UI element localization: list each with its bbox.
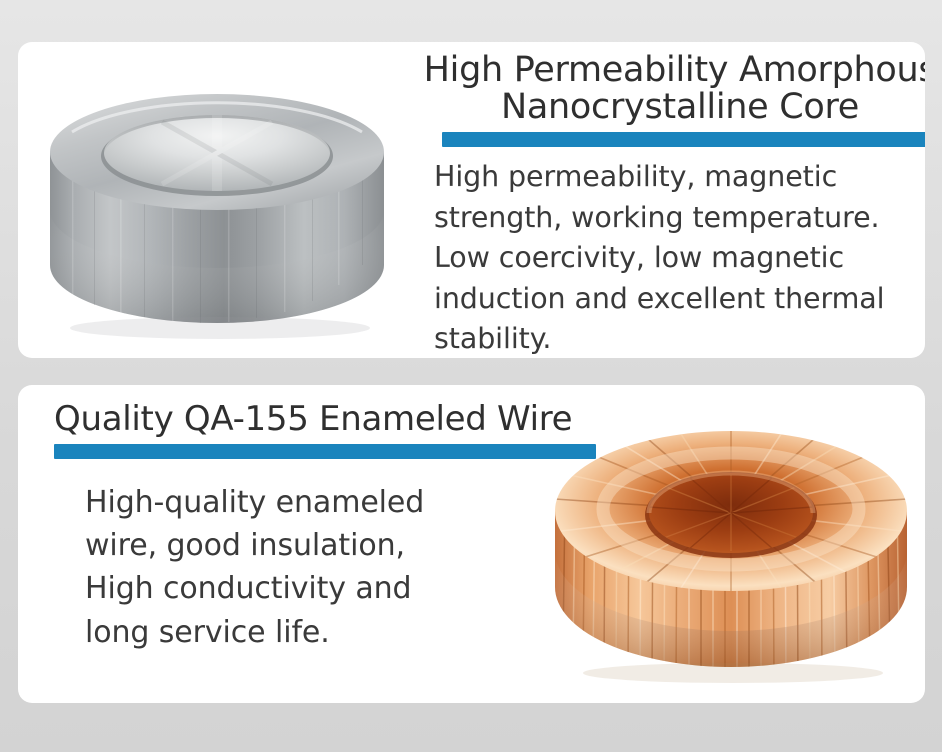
wire-text-block: Quality QA-155 Enameled Wire High-qualit… xyxy=(54,401,614,654)
core-body-text: High permeability, magnetic strength, wo… xyxy=(434,157,925,358)
core-text-block: High Permeability Amorphous Nanocrystall… xyxy=(416,52,925,358)
card-qa155-enameled-wire: Quality QA-155 Enameled Wire High-qualit… xyxy=(18,385,925,703)
card-amorphous-nanocrystalline-core: High Permeability Amorphous Nanocrystall… xyxy=(18,42,925,358)
core-heading: High Permeability Amorphous Nanocrystall… xyxy=(416,52,925,126)
wire-heading: Quality QA-155 Enameled Wire xyxy=(54,401,614,437)
wire-accent-bar xyxy=(54,444,596,459)
amorphous-nanocrystalline-core-photo xyxy=(32,60,402,350)
core-accent-bar xyxy=(442,132,925,147)
wire-body-text: High-quality enameled wire, good insulat… xyxy=(85,481,555,654)
